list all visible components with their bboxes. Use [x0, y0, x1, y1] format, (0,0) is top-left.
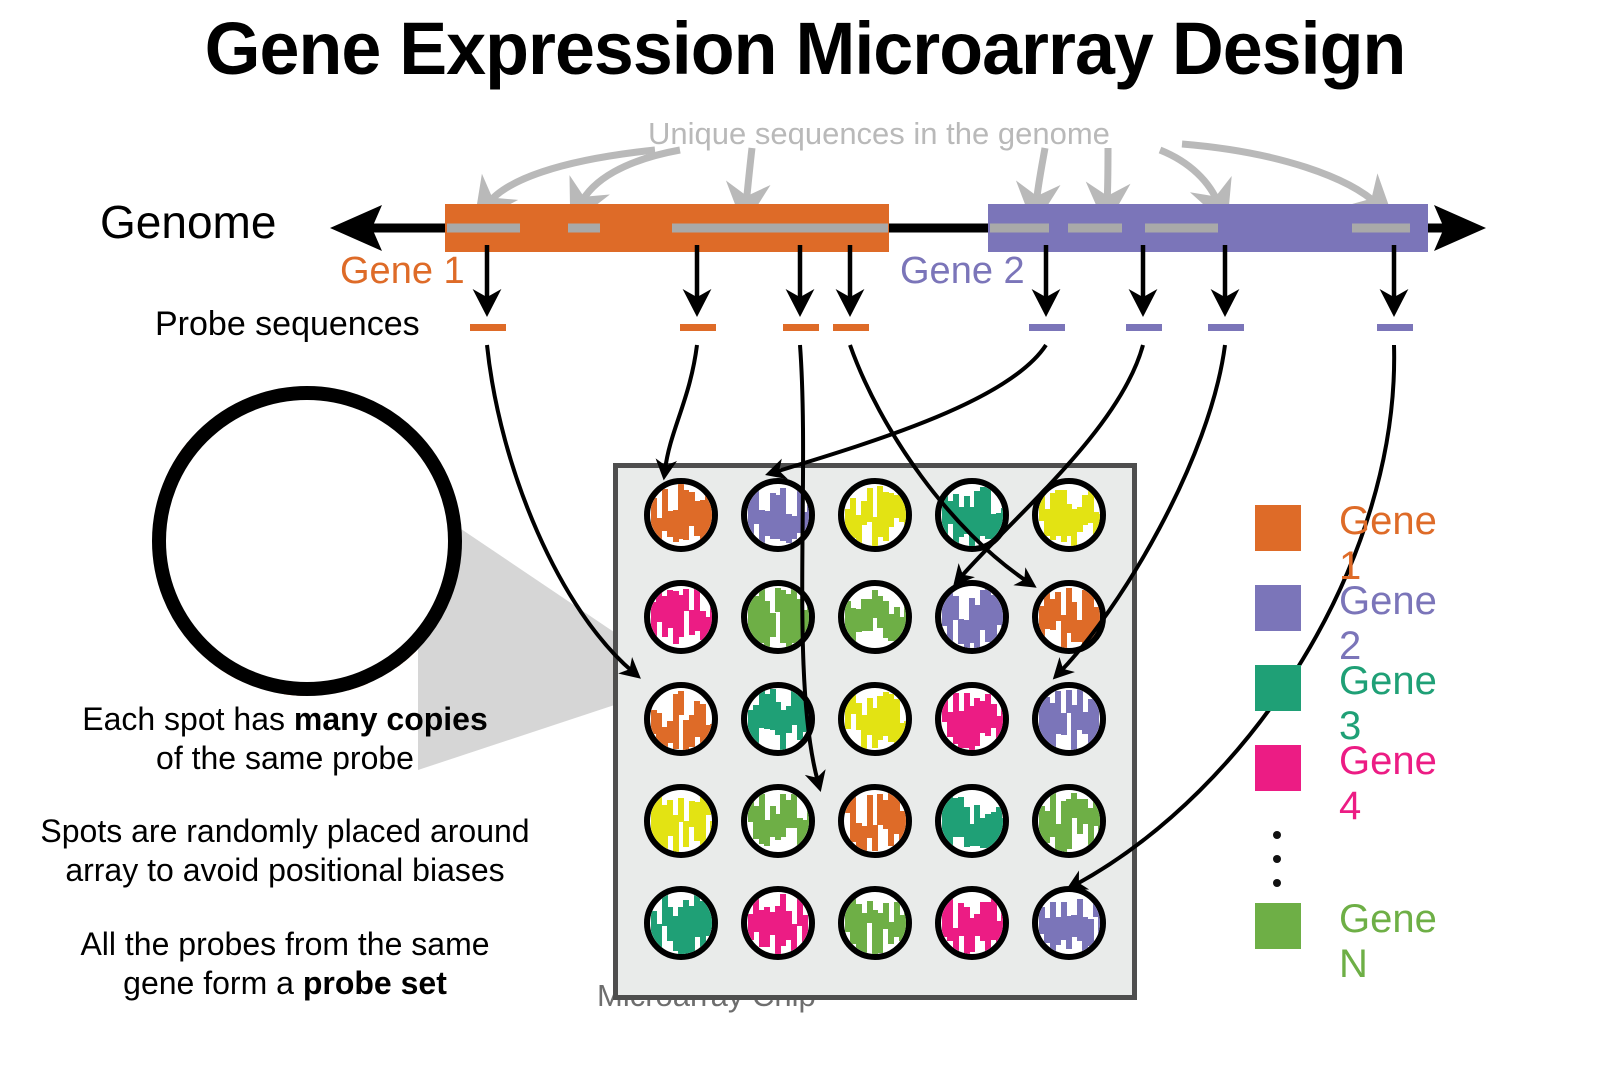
legend-label: Gene 4 [1339, 739, 1437, 829]
diagram-canvas: Gene Expression Microarray Design [0, 0, 1610, 1080]
legend-dot [1273, 855, 1281, 863]
legend-label: Gene 1 [1339, 499, 1437, 589]
blurb-many-copies: Each spot has many copiesof the same pro… [5, 700, 565, 778]
blurb-probe-set: All the probes from the samegene form a … [5, 925, 565, 1003]
legend-swatch [1255, 505, 1301, 551]
blurb1-text: Each spot has many copiesof the same pro… [82, 701, 488, 776]
legend-swatch [1255, 903, 1301, 949]
legend-dot [1273, 831, 1281, 839]
legend-label: Gene N [1339, 897, 1437, 987]
legend-swatch [1255, 745, 1301, 791]
legend-label: Gene 2 [1339, 579, 1437, 669]
blurb3-text: All the probes from the samegene form a … [80, 926, 489, 1001]
legend-swatch [1255, 585, 1301, 631]
legend-swatch [1255, 665, 1301, 711]
legend-label: Gene 3 [1339, 659, 1437, 749]
blurb2-text: Spots are randomly placed aroundarray to… [40, 813, 529, 888]
blurb-random-placement: Spots are randomly placed aroundarray to… [5, 812, 565, 890]
legend-dot [1273, 879, 1281, 887]
legend-ellipsis-dots [1273, 831, 1281, 903]
